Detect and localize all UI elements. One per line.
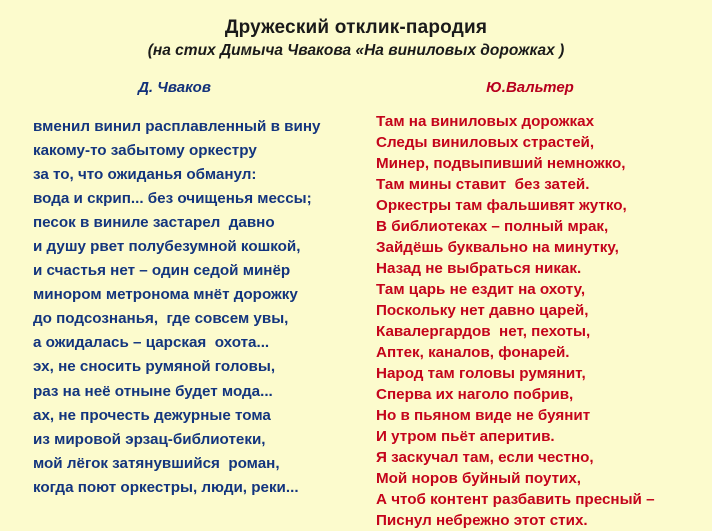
verse-line: И утром пьёт аперитив. [376,426,712,447]
verse-line: А чтоб контент разбавить пресный – [376,489,712,510]
verse-line: Писнул небрежно этот стих. [376,510,712,531]
column-right: Ю.Вальтер Там на виниловых дорожках След… [368,80,712,531]
verse-line: какому-то забытому оркестру [33,139,368,163]
verse-line: Аптек, каналов, фонарей. [376,342,712,363]
verse-line: песок в виниле застарел давно [33,211,368,235]
verse-line: до подсознанья, где совсем увы, [33,307,368,331]
verse-line: Там мины ставит без затей. [376,174,712,195]
verse-line: раз на неё отныне будет мода... [33,380,368,404]
verse-line: Оркестры там фальшивят жутко, [376,195,712,216]
page-title: Дружеский отклик-пародия [0,17,712,39]
verse-line: Там на виниловых дорожках [376,111,712,132]
verse-line: а ожидалась – царская охота... [33,331,368,355]
verse-line: минором метронома мнёт дорожку [33,283,368,307]
column-left: Д. Чваков вменил винил расплавленный в в… [0,80,368,531]
verse-line: вода и скрип... без очищенья мессы; [33,187,368,211]
page-subtitle: (на стих Димыча Чвакова «На виниловых до… [0,42,712,60]
verse-line: Минер, подвыпивший немножко, [376,153,712,174]
verse-line: и душу рвет полубезумной кошкой, [33,235,368,259]
verse-line: Мой норов буйный поутих, [376,468,712,489]
verse-line: Поскольку нет давно царей, [376,300,712,321]
poem-columns: Д. Чваков вменил винил расплавленный в в… [0,80,712,531]
verse-line: мой лёгок затянувшийся роман, [33,452,368,476]
byline-right: Ю.Вальтер [376,80,712,97]
verse-line: эх, не сносить румяной головы, [33,355,368,379]
verse-line: Зайдёшь буквально на минутку, [376,237,712,258]
verse-line: В библиотеках – полный мрак, [376,216,712,237]
verse-line: и счастья нет – один седой минёр [33,259,368,283]
verse-line: Назад не выбраться никак. [376,258,712,279]
byline-left: Д. Чваков [33,80,368,97]
page-header: Дружеский отклик-пародия (на стих Димыча… [0,0,712,60]
verse-line: Народ там головы румянит, [376,363,712,384]
verse-line: за то, что ожиданья обманул: [33,163,368,187]
verse-line: когда поют оркестры, люди, реки... [33,476,368,500]
poem-page: Дружеский отклик-пародия (на стих Димыча… [0,0,712,525]
verse-line: Сперва их наголо побрив, [376,384,712,405]
verse-left: вменил винил расплавленный в вину какому… [33,115,368,501]
verse-line: Следы виниловых страстей, [376,132,712,153]
verse-line: Но в пьяном виде не буянит [376,405,712,426]
verse-right: Там на виниловых дорожках Следы виниловы… [376,111,712,531]
verse-line: Там царь не ездит на охоту, [376,279,712,300]
verse-line: вменил винил расплавленный в вину [33,115,368,139]
verse-line: Я заскучал там, если честно, [376,447,712,468]
verse-line: ах, не прочесть дежурные тома [33,404,368,428]
verse-line: из мировой эрзац-библиотеки, [33,428,368,452]
verse-line: Кавалергардов нет, пехоты, [376,321,712,342]
